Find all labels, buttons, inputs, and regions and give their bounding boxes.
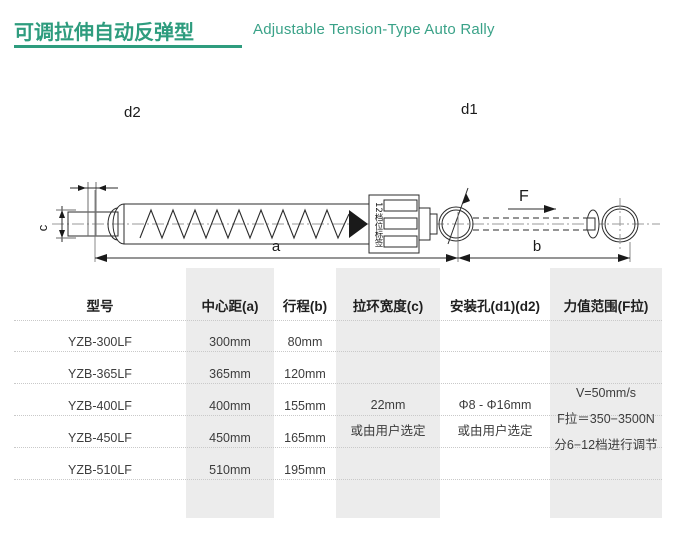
table-header-stroke: 行程(b)	[274, 295, 336, 315]
merged-cell-force-range: V=50mm/s F拉＝350−3500N 分6−12档进行调节	[550, 380, 662, 458]
table-row: 155mm	[274, 399, 336, 413]
table-divider	[14, 320, 662, 321]
table-row: 365mm	[186, 367, 274, 381]
merged-cell-mounting-hole: Φ8 - Φ16mm 或由用户选定	[440, 392, 550, 444]
table-header-model: 型号	[14, 295, 186, 315]
table-row: 300mm	[186, 335, 274, 349]
knob-ridge	[384, 218, 417, 229]
mounting-hole-note: 或由用户选定	[440, 418, 550, 444]
mounting-hole-value: Φ8 - Φ16mm	[440, 392, 550, 418]
table-row: YZB-510LF	[14, 463, 186, 477]
table-row: 165mm	[274, 431, 336, 445]
force-range-value: F拉＝350−3500N	[550, 406, 662, 432]
table-row: YZB-450LF	[14, 431, 186, 445]
table-header-mounting-hole: 安装孔(d1)(d2)	[440, 295, 550, 315]
table-header-ring-width: 拉环宽度(c)	[336, 295, 440, 315]
table-row: 400mm	[186, 399, 274, 413]
table-divider	[14, 351, 662, 352]
product-technical-diagram: d2 d1 c F a b 12档位标签	[0, 62, 676, 262]
knob-ridge	[384, 200, 417, 211]
table-row: YZB-400LF	[14, 399, 186, 413]
piston-arrow	[349, 210, 368, 238]
force-speed-value: V=50mm/s	[550, 380, 662, 406]
page-title-cn: 可调拉伸自动反弹型	[14, 16, 194, 45]
table-header-center-distance: 中心距(a)	[186, 295, 274, 315]
ring-width-note: 或由用户选定	[336, 418, 440, 444]
d1-label: d1	[461, 101, 478, 118]
table-row: YZB-365LF	[14, 367, 186, 381]
knob-gear-label: 12档位标签	[373, 202, 383, 247]
title-underline	[14, 45, 242, 48]
table-row: YZB-300LF	[14, 335, 186, 349]
a-label: a	[272, 238, 281, 255]
knob-neck	[430, 214, 437, 234]
force-gear-note: 分6−12档进行调节	[550, 432, 662, 458]
table-row: 450mm	[186, 431, 274, 445]
c-label: c	[35, 224, 50, 231]
merged-cell-ring-width: 22mm 或由用户选定	[336, 392, 440, 444]
table-header-force-range: 力值范围(F拉)	[550, 295, 662, 315]
knob-collar	[419, 208, 430, 240]
table-row: 195mm	[274, 463, 336, 477]
ring-width-value: 22mm	[336, 392, 440, 418]
page-title-en: Adjustable Tension-Type Auto Rally	[253, 21, 495, 38]
b-label: b	[533, 238, 541, 255]
table-divider	[14, 479, 662, 480]
knob-ridge	[384, 236, 417, 247]
table-row: 120mm	[274, 367, 336, 381]
table-row: 510mm	[186, 463, 274, 477]
specification-table: 型号 中心距(a) 行程(b) 拉环宽度(c) 安装孔(d1)(d2) 力值范围…	[0, 268, 676, 534]
table-row: 80mm	[274, 335, 336, 349]
force-label: F	[519, 188, 529, 205]
page-header: 可调拉伸自动反弹型 Adjustable Tension-Type Auto R…	[0, 0, 676, 62]
d2-label: d2	[124, 104, 141, 121]
